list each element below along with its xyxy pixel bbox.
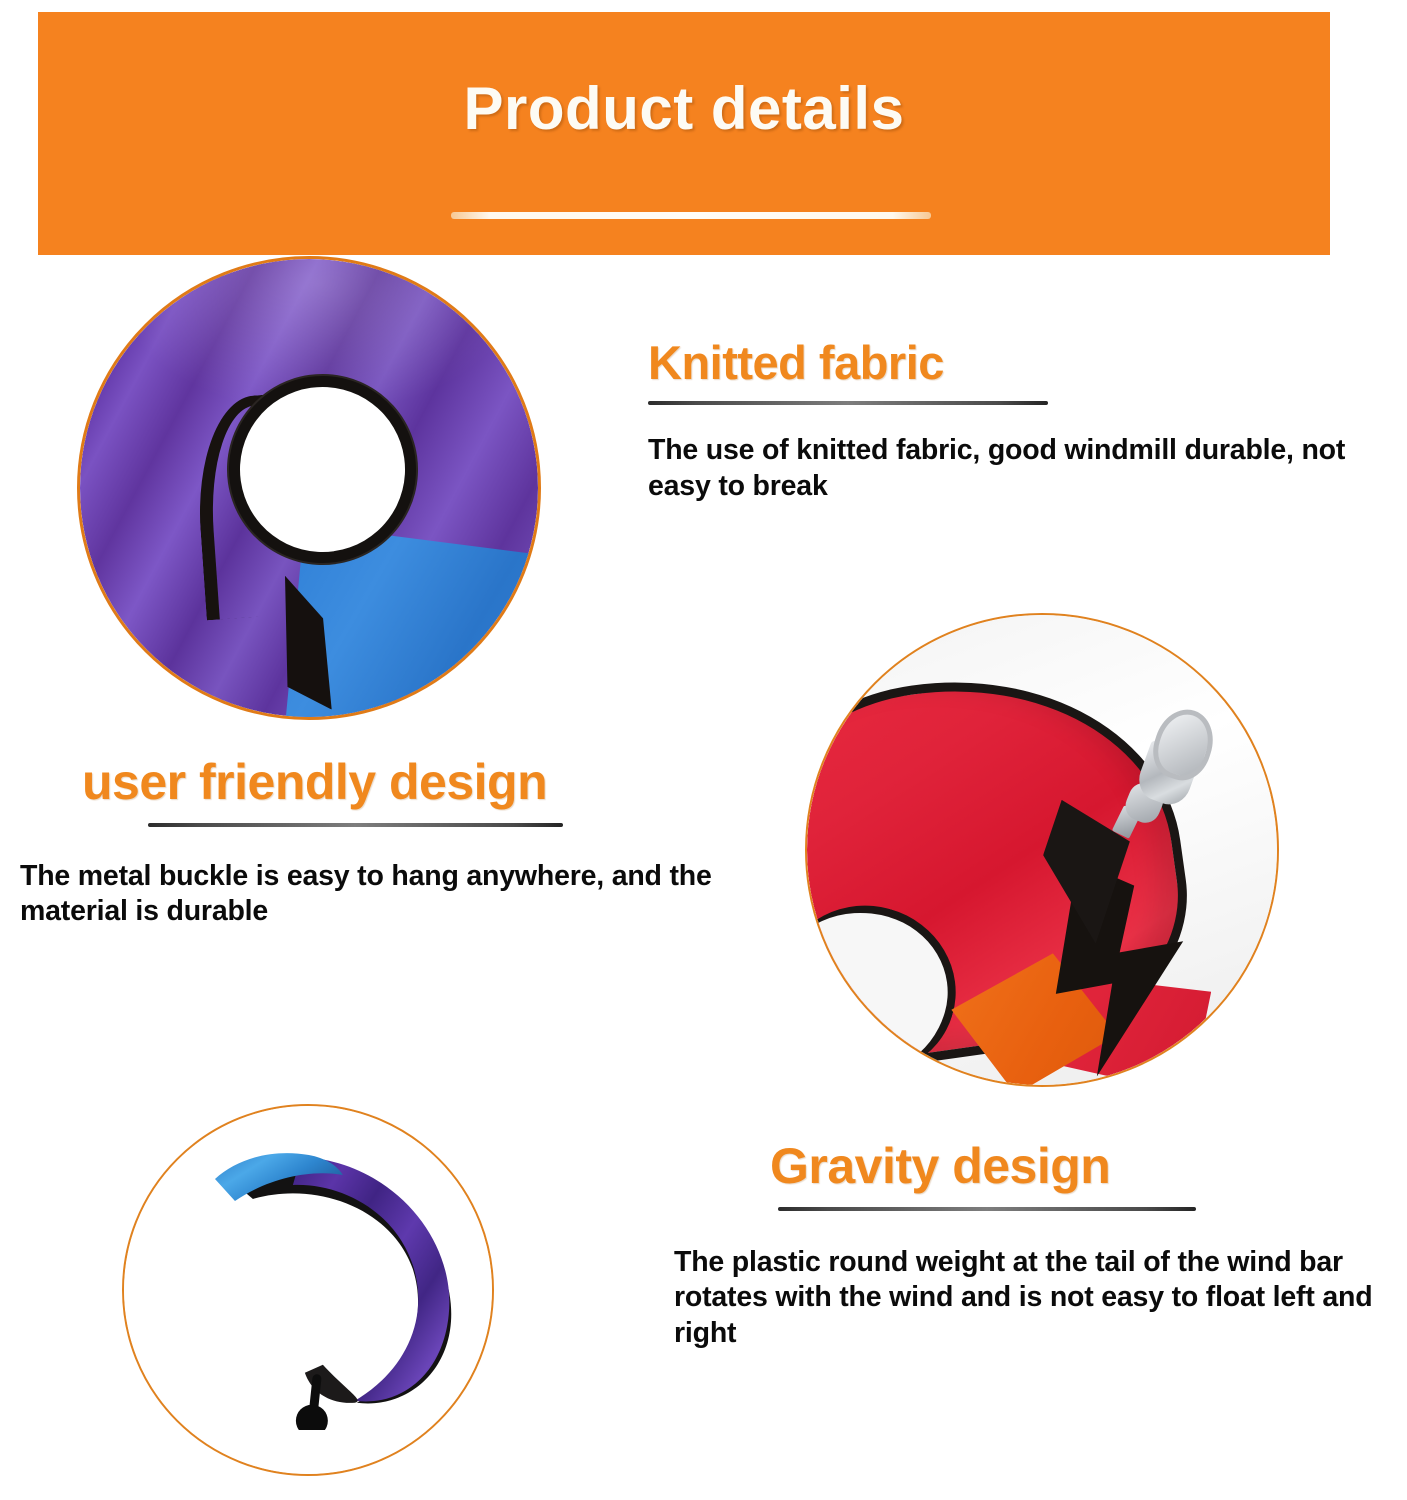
knitted-fabric-photo-inner: [80, 259, 538, 717]
product-details-infographic: Product details Knitted fabric The use o…: [0, 0, 1407, 1500]
feature-heading-gravity-design: Gravity design: [770, 1140, 1407, 1193]
gravity-photo-inner: [124, 1106, 492, 1474]
feature-photo-user-friendly-design: [805, 613, 1279, 1087]
feature-divider-user-friendly-design: [148, 823, 563, 827]
feature-body-knitted-fabric: The use of knitted fabric, good windmill…: [648, 433, 1368, 505]
feature-heading-knitted-fabric: Knitted fabric: [648, 338, 1348, 387]
feature-text-knitted-fabric: Knitted fabric The use of knitted fabric…: [648, 338, 1348, 505]
header-underline-rule: [451, 212, 931, 219]
feature-divider-knitted-fabric: [648, 401, 1048, 405]
header-banner: Product details: [38, 12, 1330, 255]
feature-body-user-friendly-design: The metal buckle is easy to hang anywher…: [20, 859, 750, 931]
feature-body-gravity-design: The plastic round weight at the tail of …: [674, 1245, 1407, 1353]
feature-photo-knitted-fabric: [77, 256, 541, 720]
feature-photo-gravity-design: [122, 1104, 494, 1476]
feature-text-user-friendly-design: user friendly design The metal buckle is…: [82, 756, 782, 930]
feature-heading-user-friendly-design: user friendly design: [82, 756, 782, 809]
buckle-photo-inner: [807, 615, 1277, 1085]
feature-text-gravity-design: Gravity design The plastic round weight …: [770, 1140, 1407, 1352]
crescent-windsock-shape: [205, 1128, 485, 1430]
feature-divider-gravity-design: [778, 1207, 1196, 1211]
page-title: Product details: [38, 74, 1330, 143]
